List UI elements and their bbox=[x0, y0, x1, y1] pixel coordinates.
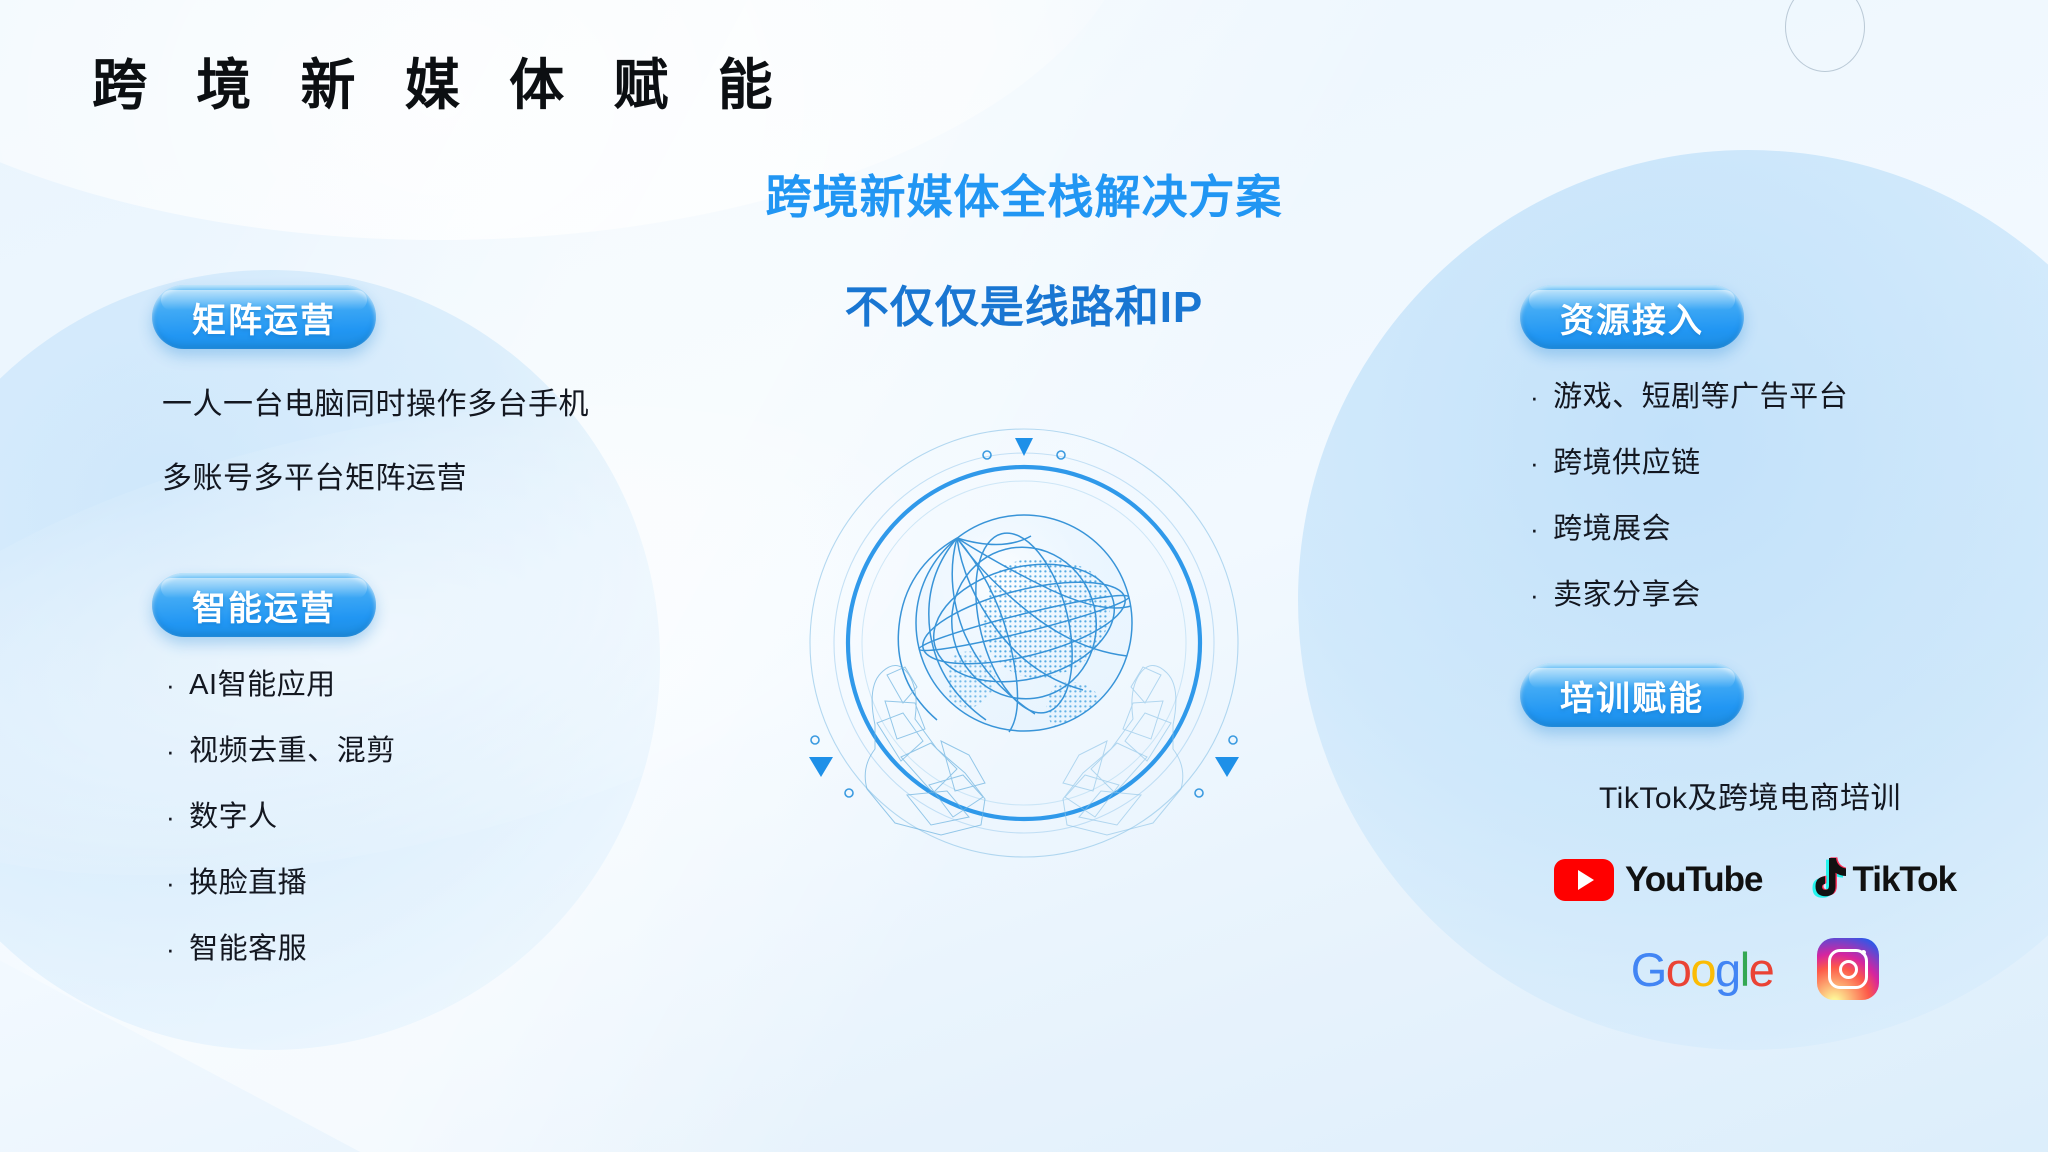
youtube-play-icon bbox=[1554, 859, 1614, 901]
bullet-dot-icon: · bbox=[1530, 516, 1539, 542]
left-content-column: 矩阵运营 一人一台电脑同时操作多台手机 多账号多平台矩阵运营 智能运营 · AI… bbox=[152, 285, 752, 991]
bullet-dot-icon: · bbox=[1530, 450, 1539, 476]
list-item: · 数字人 bbox=[166, 793, 752, 835]
logo-row-top: YouTube TikTok bbox=[1520, 855, 1990, 904]
bullet-dot-icon: · bbox=[166, 936, 175, 962]
pill-label: 资源接入 bbox=[1560, 293, 1704, 342]
page-title: 跨 境 新 媒 体 赋 能 bbox=[92, 40, 790, 120]
feature-line: 一人一台电脑同时操作多台手机 bbox=[162, 379, 752, 423]
google-logo: Google bbox=[1631, 942, 1774, 997]
list-item: · 跨境展会 bbox=[1530, 505, 2040, 547]
section-smart-operations: 智能运营 · AI智能应用 · 视频去重、混剪 · 数字人 · 换脸直播 · 智… bbox=[152, 573, 752, 967]
list-item: · 视频去重、混剪 bbox=[166, 727, 752, 769]
list-item-label: 换脸直播 bbox=[189, 859, 307, 901]
pill-resource-access[interactable]: 资源接入 bbox=[1520, 285, 1744, 349]
section-training-empowerment: 培训赋能 TikTok及跨境电商培训 YouTube bbox=[1520, 663, 2040, 1000]
right-content-column: 资源接入 · 游戏、短剧等广告平台 · 跨境供应链 · 跨境展会 · 卖家分享会… bbox=[1520, 285, 2040, 1012]
list-item: · 卖家分享会 bbox=[1530, 571, 2040, 613]
bullet-list-smart-operations: · AI智能应用 · 视频去重、混剪 · 数字人 · 换脸直播 · 智能客服 bbox=[152, 661, 752, 967]
list-item-label: 卖家分享会 bbox=[1553, 571, 1701, 613]
bullet-list-resource-access: · 游戏、短剧等广告平台 · 跨境供应链 · 跨境展会 · 卖家分享会 bbox=[1520, 373, 2040, 613]
list-item: · 游戏、短剧等广告平台 bbox=[1530, 373, 2040, 415]
list-item-label: 数字人 bbox=[189, 793, 278, 835]
feature-line: 多账号多平台矩阵运营 bbox=[162, 453, 752, 497]
list-item-label: 视频去重、混剪 bbox=[189, 727, 396, 769]
list-item-label: 游戏、短剧等广告平台 bbox=[1553, 373, 1848, 415]
list-item-label: 智能客服 bbox=[189, 925, 307, 967]
tiktok-note-icon bbox=[1806, 855, 1846, 904]
list-item-label: AI智能应用 bbox=[189, 661, 335, 703]
bullet-dot-icon: · bbox=[166, 804, 175, 830]
pill-label: 智能运营 bbox=[192, 581, 336, 630]
center-heading-primary: 跨境新媒体全栈解决方案 bbox=[574, 172, 1474, 223]
pill-matrix-operations[interactable]: 矩阵运营 bbox=[152, 285, 376, 349]
pill-training-empowerment[interactable]: 培训赋能 bbox=[1520, 663, 1744, 727]
list-item: · 跨境供应链 bbox=[1530, 439, 2040, 481]
logo-row-bottom: Google bbox=[1520, 938, 1990, 1000]
bullet-dot-icon: · bbox=[166, 672, 175, 698]
youtube-logo: YouTube bbox=[1554, 859, 1763, 901]
bullet-dot-icon: · bbox=[1530, 582, 1539, 608]
pill-label: 矩阵运营 bbox=[192, 293, 336, 342]
list-item: · 智能客服 bbox=[166, 925, 752, 967]
instagram-logo bbox=[1817, 938, 1879, 1000]
tiktok-logo: TikTok bbox=[1806, 855, 1956, 904]
decorative-ring-icon bbox=[1785, 0, 1865, 72]
pill-label: 培训赋能 bbox=[1560, 671, 1704, 720]
list-item-label: 跨境展会 bbox=[1553, 505, 1671, 547]
section-matrix-operations: 矩阵运营 一人一台电脑同时操作多台手机 多账号多平台矩阵运营 bbox=[152, 285, 752, 497]
training-description: TikTok及跨境电商培训 bbox=[1520, 773, 1980, 817]
list-item: · 换脸直播 bbox=[166, 859, 752, 901]
bullet-dot-icon: · bbox=[166, 870, 175, 896]
globe-in-hands-illustration bbox=[789, 405, 1259, 875]
bullet-dot-icon: · bbox=[1530, 384, 1539, 410]
youtube-wordmark: YouTube bbox=[1625, 860, 1763, 900]
platform-logo-grid: YouTube TikTok Google bbox=[1520, 855, 1990, 1000]
list-item-label: 跨境供应链 bbox=[1553, 439, 1701, 481]
pill-smart-operations[interactable]: 智能运营 bbox=[152, 573, 376, 637]
tiktok-wordmark: TikTok bbox=[1852, 860, 1956, 900]
section-resource-access: 资源接入 · 游戏、短剧等广告平台 · 跨境供应链 · 跨境展会 · 卖家分享会 bbox=[1520, 285, 2040, 613]
bullet-dot-icon: · bbox=[166, 738, 175, 764]
instagram-camera-icon bbox=[1828, 949, 1868, 989]
list-item: · AI智能应用 bbox=[166, 661, 752, 703]
